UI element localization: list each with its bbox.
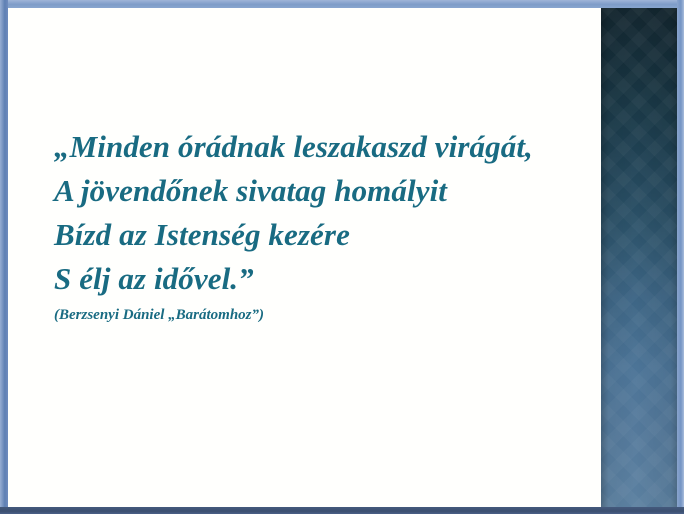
quote-line-4: S élj az idővel.”	[54, 257, 594, 301]
slide-border-left	[0, 0, 8, 514]
slide-border-bottom	[0, 507, 684, 514]
quote-attribution: (Berzsenyi Dániel „Barátomhoz”)	[54, 305, 594, 325]
decorative-side-band	[601, 8, 677, 507]
quote-line-2: A jövendőnek sivatag homályit	[54, 169, 594, 213]
quote-block: „Minden órádnak leszakaszd virágát, A jö…	[54, 125, 594, 325]
slide-border-top	[0, 0, 684, 8]
slide-border-right	[677, 0, 684, 514]
quote-line-1: „Minden órádnak leszakaszd virágát,	[54, 125, 594, 169]
quote-line-3: Bízd az Istenség kezére	[54, 213, 594, 257]
side-band-shading	[601, 8, 677, 507]
slide-content-area: „Minden órádnak leszakaszd virágát, A jö…	[8, 8, 601, 507]
slide: „Minden órádnak leszakaszd virágát, A jö…	[0, 0, 684, 514]
